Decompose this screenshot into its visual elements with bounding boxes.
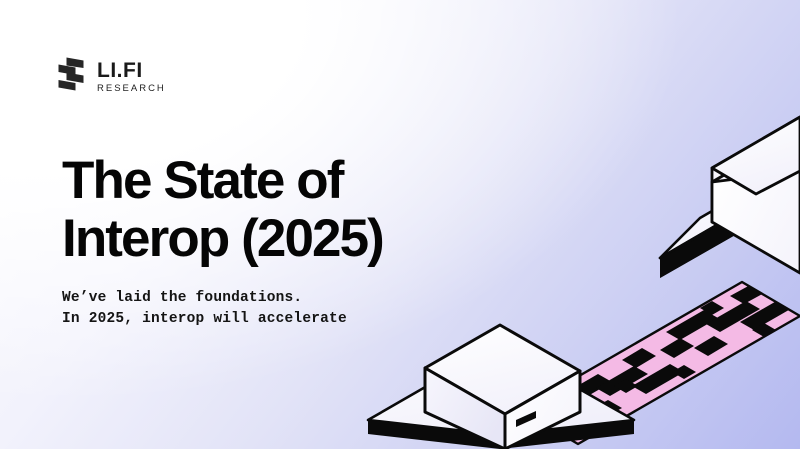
page-subtitle: We’ve laid the foundations. In 2025, int… [62, 288, 492, 330]
page-title-line-2: Interop (2025) [62, 210, 532, 268]
right-cube [712, 117, 800, 273]
logo-text-stack: LI.FI RESEARCH [97, 59, 166, 94]
brand-logo[interactable]: LI.FI RESEARCH [56, 56, 166, 96]
left-cube [425, 325, 580, 449]
data-bridge [520, 282, 800, 448]
logo-sub-wordmark: RESEARCH [97, 84, 166, 94]
left-platform [368, 344, 634, 449]
page-subtitle-line-2: In 2025, interop will accelerate [62, 309, 492, 330]
page-subtitle-line-1: We’ve laid the foundations. [62, 288, 492, 309]
bridge-bit-marks [530, 284, 800, 448]
page-title: The State of Interop (2025) [62, 152, 532, 268]
page-title-line-1: The State of [62, 152, 532, 210]
lifi-logo-mark-icon [56, 56, 86, 96]
cover-card: LI.FI RESEARCH The State of Interop (202… [0, 0, 800, 449]
logo-wordmark: LI.FI [97, 61, 166, 81]
cube-port-dash [516, 411, 536, 427]
right-platform [660, 160, 800, 278]
